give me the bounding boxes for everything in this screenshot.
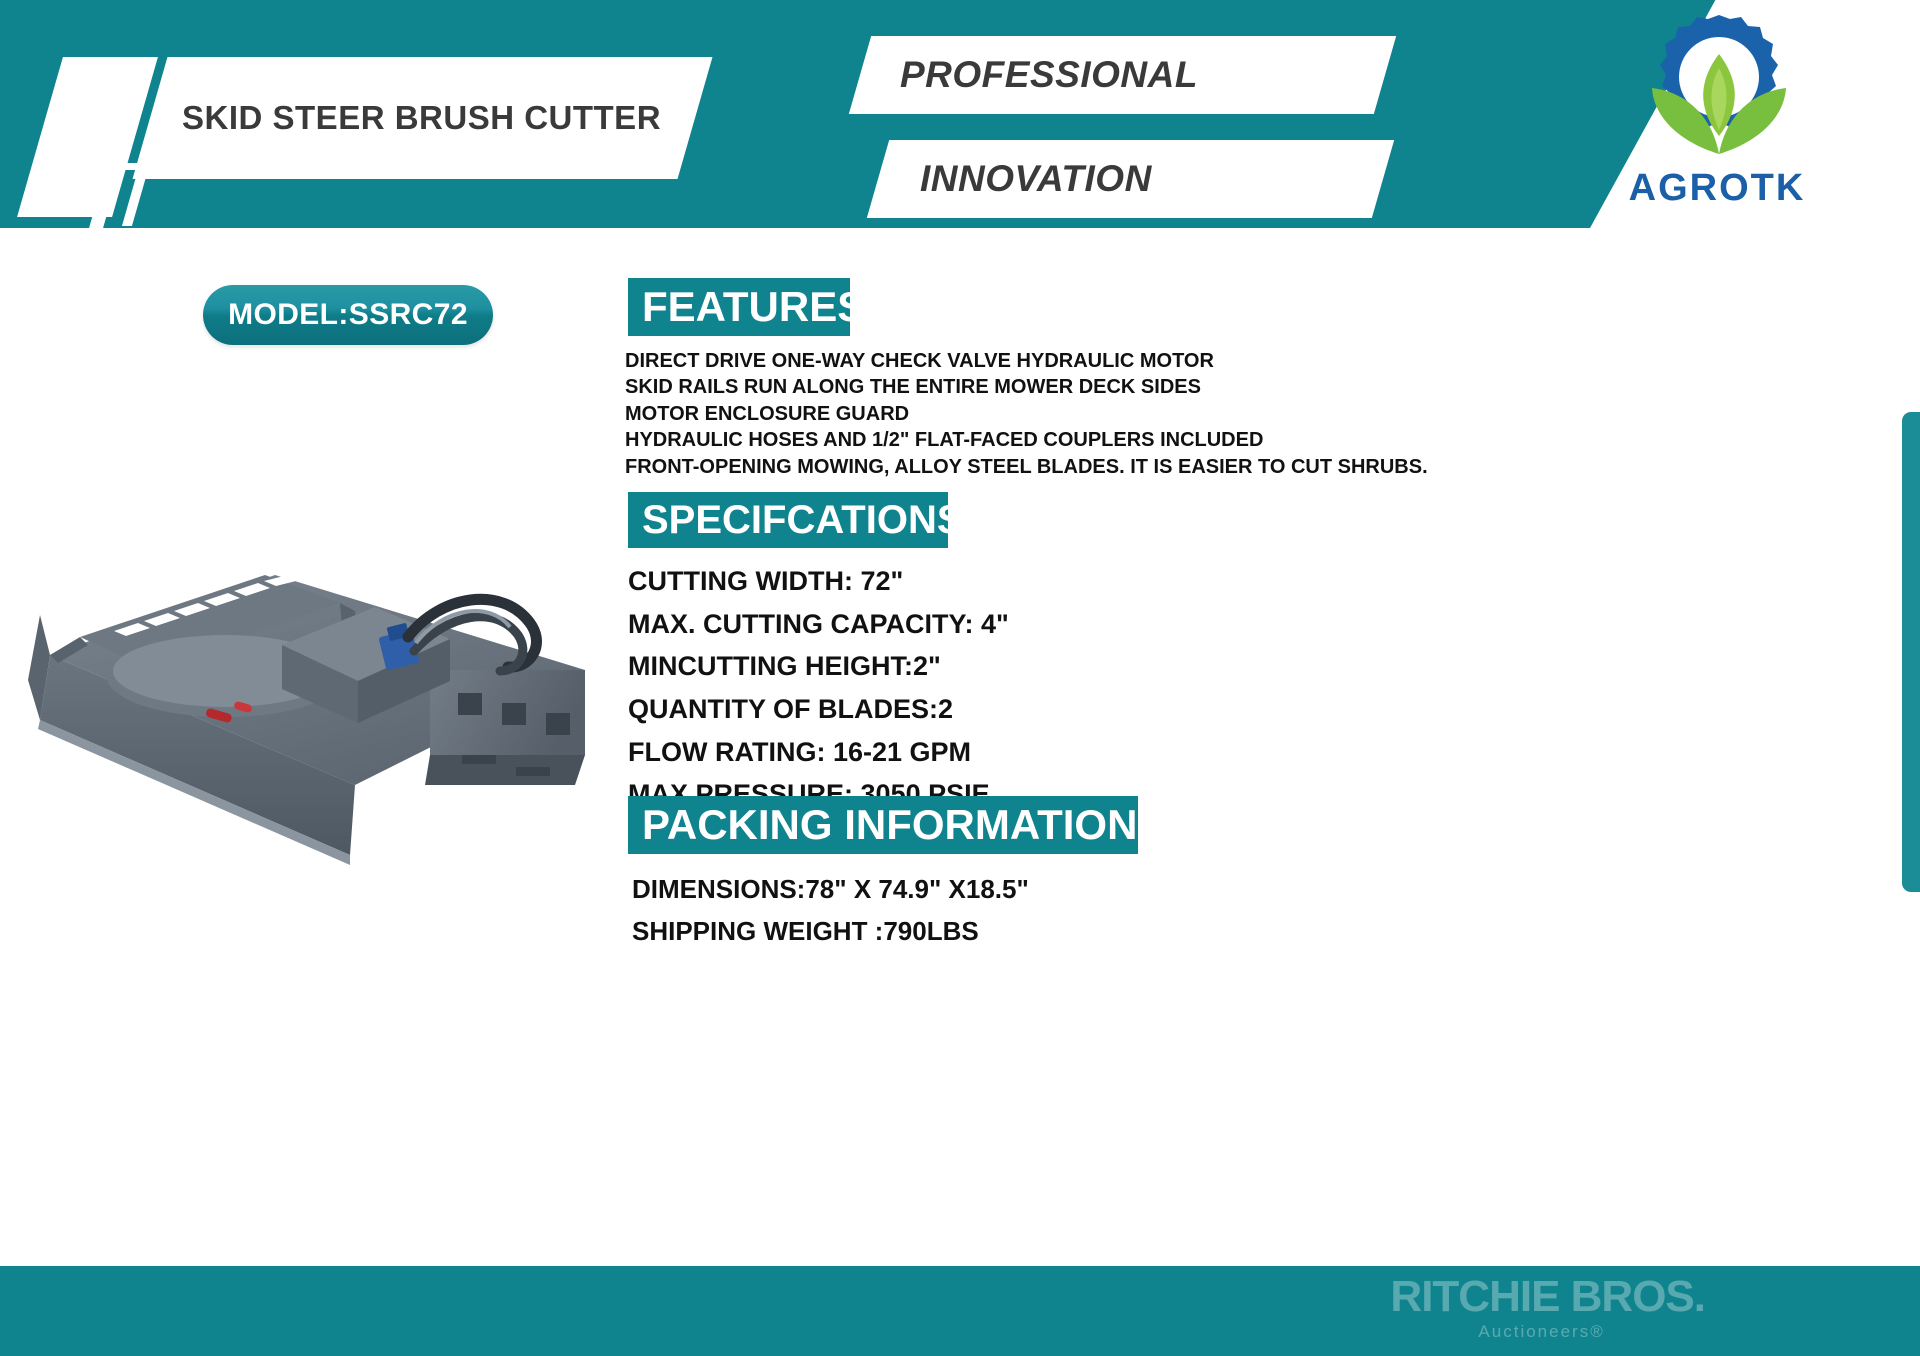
specifications-list: CUTTING WIDTH: 72" MAX. CUTTING CAPACITY…: [628, 560, 1428, 816]
model-badge: MODEL:SSRC72: [203, 285, 493, 345]
brand-wordmark: AGROTK: [1602, 167, 1832, 210]
feature-item: SKID RAILS RUN ALONG THE ENTIRE MOWER DE…: [625, 374, 1725, 400]
tagline-innovation: INNOVATION: [920, 140, 1152, 218]
page-header: SKID STEER BRUSH CUTTER PROFESSIONAL INN…: [0, 0, 1920, 228]
page-title: SKID STEER BRUSH CUTTER: [182, 78, 702, 158]
feature-item: HYDRAULIC HOSES AND 1/2" FLAT-FACED COUP…: [625, 427, 1725, 453]
feature-item: MOTOR ENCLOSURE GUARD: [625, 401, 1725, 427]
spec-item: CUTTING WIDTH: 72": [628, 560, 1428, 603]
feature-item: FRONT-OPENING MOWING, ALLOY STEEL BLADES…: [625, 454, 1725, 480]
spec-item: MINCUTTING HEIGHT:2": [628, 645, 1428, 688]
page-footer: [0, 1266, 1920, 1356]
specifications-heading: SPECIFCATIONS: [628, 492, 948, 548]
tagline-professional: PROFESSIONAL: [900, 36, 1198, 114]
product-photo: [10, 455, 610, 875]
feature-item: DIRECT DRIVE ONE-WAY CHECK VALVE HYDRAUL…: [625, 348, 1725, 374]
right-edge-tab: [1902, 412, 1920, 892]
model-badge-label: MODEL:SSRC72: [228, 298, 468, 332]
packing-heading: PACKING INFORMATION: [628, 796, 1138, 854]
packing-item: DIMENSIONS:78" X 74.9" X18.5": [632, 868, 1432, 910]
agrotk-logo: AGROTK: [1602, 14, 1832, 214]
features-list: DIRECT DRIVE ONE-WAY CHECK VALVE HYDRAUL…: [625, 348, 1725, 480]
spec-item: MAX. CUTTING CAPACITY: 4": [628, 603, 1428, 646]
packing-item: SHIPPING WEIGHT :790LBS: [632, 910, 1432, 952]
features-heading: FEATURES: [628, 278, 850, 336]
header-title-underline: [115, 163, 562, 170]
spec-item: QUANTITY OF BLADES:2: [628, 688, 1428, 731]
gear-leaf-icon: [1634, 14, 1804, 164]
spec-item: FLOW RATING: 16-21 GPM: [628, 731, 1428, 774]
packing-list: DIMENSIONS:78" X 74.9" X18.5" SHIPPING W…: [632, 868, 1432, 952]
